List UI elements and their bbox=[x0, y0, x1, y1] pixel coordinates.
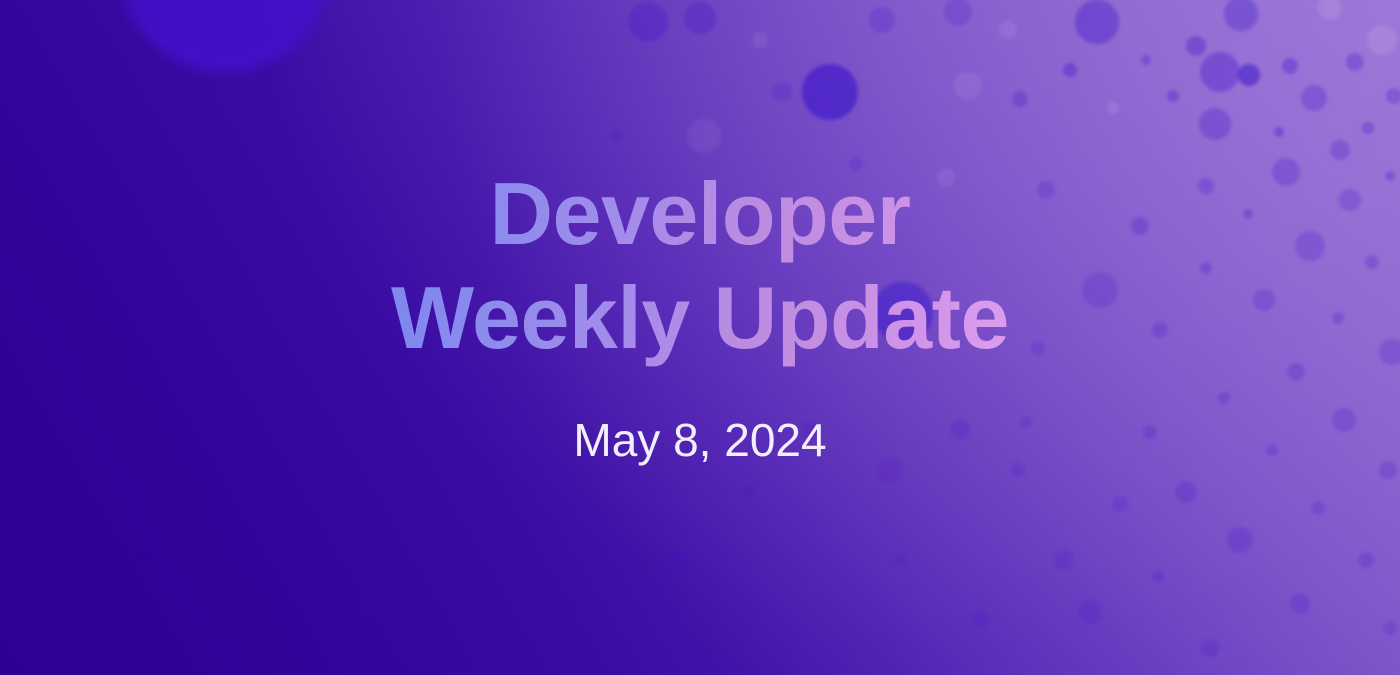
title-line-1: Developer bbox=[391, 162, 1009, 266]
page-title: Developer Weekly Update bbox=[391, 162, 1009, 370]
slide-subtitle-date: May 8, 2024 bbox=[573, 413, 826, 467]
slide-content: Developer Weekly Update May 8, 2024 bbox=[0, 0, 1400, 675]
title-line-2: Weekly Update bbox=[391, 266, 1009, 370]
title-slide: Developer Weekly Update May 8, 2024 bbox=[0, 0, 1400, 675]
